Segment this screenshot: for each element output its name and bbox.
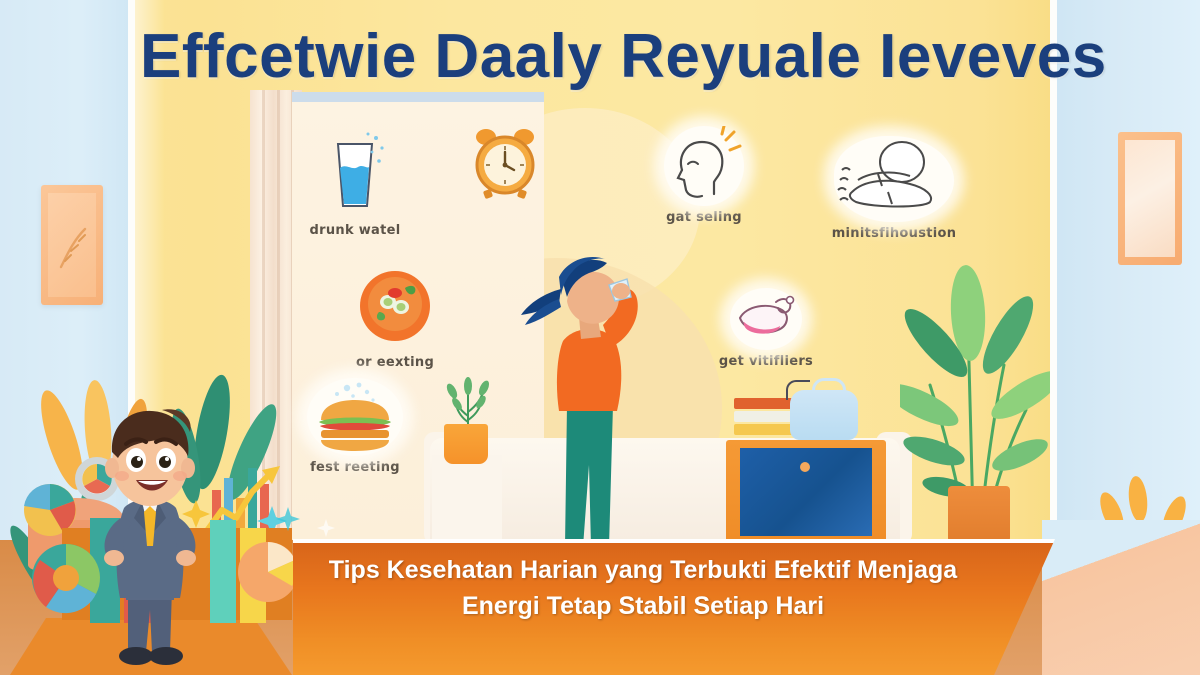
icon-label-vitamin: get vitifliers [706, 354, 826, 369]
icon-card-water[interactable]: drunk watel [300, 128, 410, 238]
infographic-canvas: drunk watel [0, 0, 1200, 675]
potted-plant-small-leaves-icon [440, 372, 496, 430]
caption-line-2: Energi Tetap Stabil Setiap Hari [293, 588, 993, 624]
sparkle-icons [182, 500, 210, 528]
sparkle-icon-small [316, 518, 336, 538]
icon-card-vitamin[interactable]: get vitifliers [706, 288, 826, 369]
icon-card-sleep[interactable]: minitsfihoustion [820, 136, 968, 241]
page-title: Effcetwie Daaly Reyuale Ieveves [140, 18, 1020, 96]
businessman-mascot [0, 360, 300, 675]
book-stack [734, 398, 796, 438]
burger-icon [307, 378, 403, 456]
icon-card-salad[interactable]: or eexting [340, 266, 450, 370]
icon-label-sleep: minitsfihoustion [820, 226, 968, 241]
cabinet-knob [800, 462, 810, 472]
icon-label-water: drunk watel [300, 223, 410, 238]
donut-chart [32, 544, 100, 613]
caption-text: Tips Kesehatan Harian yang Terbukti Efek… [293, 552, 993, 624]
icon-label-head: gat seling [650, 210, 758, 225]
icon-card-burger[interactable]: fest reeting [296, 378, 414, 475]
icon-card-head[interactable]: gat seling [650, 126, 758, 225]
pill-capsule-icon [730, 288, 802, 350]
wall-mirror [1118, 132, 1182, 265]
icon-label-burger: fest reeting [296, 460, 414, 475]
woman-drinking-water [505, 255, 685, 555]
floor-right-corner [1042, 520, 1200, 675]
head-stress-icon [664, 126, 744, 206]
side-table [432, 455, 502, 545]
sleeping-person-icon [834, 136, 954, 222]
caption-line-1: Tips Kesehatan Harian yang Terbukti Efek… [293, 552, 993, 588]
icon-card-clock[interactable] [460, 124, 550, 205]
salad-bowl-icon [355, 266, 435, 346]
alarm-clock-icon [468, 124, 542, 200]
blue-bag [790, 390, 858, 440]
water-glass-icon [322, 128, 388, 214]
potted-plant-small-pot [444, 424, 488, 464]
sparkle-icon-left [274, 505, 302, 533]
icon-label-salad: or eexting [340, 355, 450, 370]
picture-squiggle-icon [55, 215, 95, 275]
pie-chart-right [238, 542, 298, 602]
large-leaf-plant-pot [948, 486, 1010, 548]
